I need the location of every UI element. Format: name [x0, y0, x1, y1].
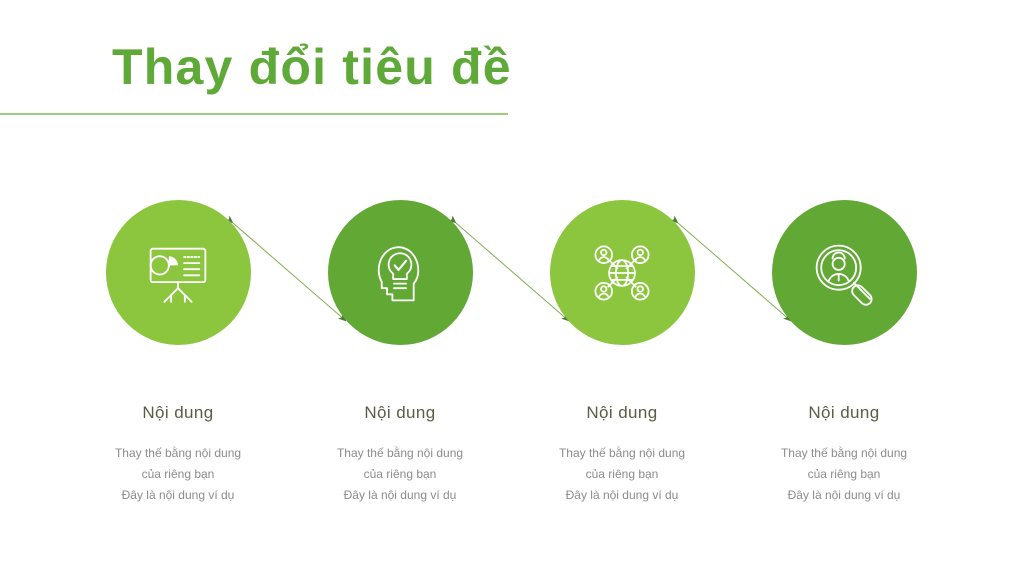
- content-column-1: Nội dung Thay thế bằng nội dung của riên…: [67, 200, 289, 506]
- content-columns: Nội dung Thay thế bằng nội dung của riên…: [0, 200, 1024, 506]
- title-underline-rule: [0, 113, 508, 115]
- item-body-1-line-2: của riêng bạn: [115, 464, 241, 485]
- item-body-1-line-1: Thay thế bằng nội dung: [115, 443, 241, 464]
- item-body-4: Thay thế bằng nội dung của riêng bạn Đây…: [781, 443, 907, 506]
- title-block: Thay đổi tiêu đề: [0, 36, 520, 98]
- item-body-3: Thay thế bằng nội dung của riêng bạn Đây…: [559, 443, 685, 506]
- item-body-4-line-1: Thay thế bằng nội dung: [781, 443, 907, 464]
- item-body-4-line-2: của riêng bạn: [781, 464, 907, 485]
- item-body-4-line-3: Đây là nội dung ví dụ: [781, 485, 907, 506]
- page-title[interactable]: Thay đổi tiêu đề: [0, 36, 520, 98]
- item-body-1-line-3: Đây là nội dung ví dụ: [115, 485, 241, 506]
- icon-circle-4[interactable]: [772, 200, 917, 345]
- item-body-3-line-2: của riêng bạn: [559, 464, 685, 485]
- item-body-2-line-3: Đây là nội dung ví dụ: [337, 485, 463, 506]
- item-heading-1: Nội dung: [142, 403, 213, 423]
- item-heading-4: Nội dung: [808, 403, 879, 423]
- icon-circle-1[interactable]: [106, 200, 251, 345]
- item-body-2-line-2: của riêng bạn: [337, 464, 463, 485]
- icon-circle-3[interactable]: [550, 200, 695, 345]
- content-column-2: Nội dung Thay thế bằng nội dung của riên…: [289, 200, 511, 506]
- magnifier-person-search-icon: [806, 235, 882, 311]
- head-lightbulb-idea-icon: [362, 235, 438, 311]
- slide-canvas: Thay đổi tiêu đề: [0, 0, 1024, 576]
- icon-circle-2[interactable]: [328, 200, 473, 345]
- item-heading-3: Nội dung: [586, 403, 657, 423]
- content-column-4: Nội dung Thay thế bằng nội dung của riên…: [733, 200, 955, 506]
- item-body-2: Thay thế bằng nội dung của riêng bạn Đây…: [337, 443, 463, 506]
- item-body-3-line-1: Thay thế bằng nội dung: [559, 443, 685, 464]
- item-body-1: Thay thế bằng nội dung của riêng bạn Đây…: [115, 443, 241, 506]
- presentation-chart-icon: [140, 235, 216, 311]
- item-body-2-line-1: Thay thế bằng nội dung: [337, 443, 463, 464]
- item-body-3-line-3: Đây là nội dung ví dụ: [559, 485, 685, 506]
- content-column-3: Nội dung Thay thế bằng nội dung của riên…: [511, 200, 733, 506]
- item-heading-2: Nội dung: [364, 403, 435, 423]
- globe-network-users-icon: [584, 235, 660, 311]
